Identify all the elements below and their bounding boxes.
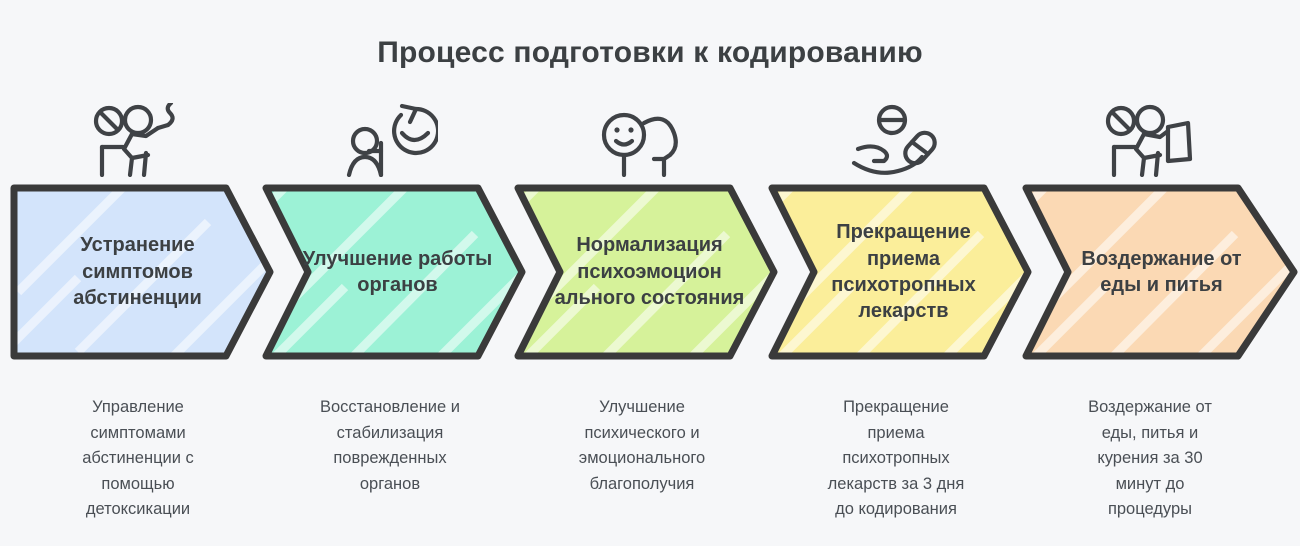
chevron-shape-4: [766, 182, 1038, 362]
no-eating-drinking-person-icon: [1020, 100, 1280, 180]
head-smiley-mental-health-icon: [512, 100, 772, 180]
page-title: Процесс подготовки к кодированию: [0, 36, 1300, 70]
process-flow-diagram: Устранение симптомов абстиненции Управле…: [0, 100, 1300, 540]
step-caption: Улучшение психического и эмоционального …: [520, 395, 764, 497]
step-caption: Воздержание от еды, питья и курения за 3…: [1028, 395, 1272, 523]
person-recovery-refresh-icon: [260, 100, 520, 180]
process-step-2[interactable]: Улучшение работы органов Восстановление …: [260, 100, 520, 540]
chevron-shape-2: [260, 182, 532, 362]
hand-holding-pills-icon: [766, 100, 1026, 180]
no-smoking-person-icon: [8, 100, 268, 180]
step-caption: Прекращение приема психотропных лекарств…: [774, 395, 1018, 523]
chevron-shape-5: [1020, 182, 1292, 362]
process-step-5[interactable]: Воздержание от еды и питья Воздержание о…: [1020, 100, 1280, 540]
process-step-1[interactable]: Устранение симптомов абстиненции Управле…: [8, 100, 268, 540]
step-caption: Восстановление и стабилизация поврежденн…: [268, 395, 512, 497]
chevron-shape-1: [8, 182, 280, 362]
process-step-3[interactable]: Нормализация психоэмоцион ального состоя…: [512, 100, 772, 540]
process-step-4[interactable]: Прекращение приема психотропных лекарств…: [766, 100, 1026, 540]
chevron-shape-3: [512, 182, 784, 362]
step-caption: Управление симптомами абстиненции с помо…: [16, 395, 260, 523]
